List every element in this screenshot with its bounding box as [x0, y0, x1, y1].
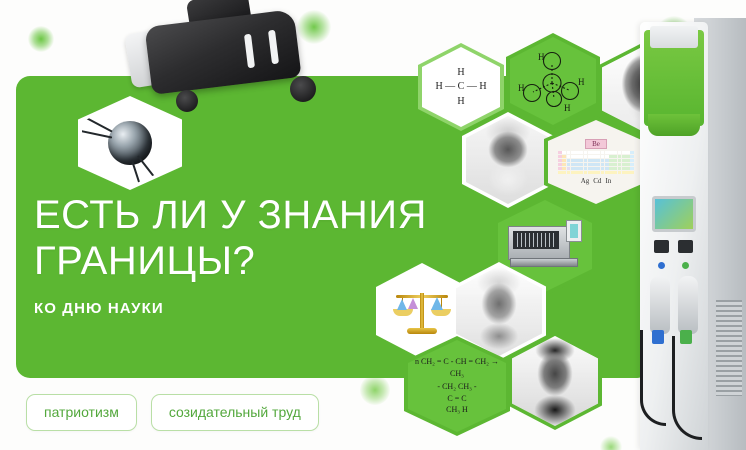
periodic-highlight-cd: Cd — [593, 177, 601, 185]
tag-list: патриотизм созидательный труд — [26, 394, 319, 431]
tetrahedral-molecule-icon: H H H H — [514, 45, 592, 117]
ev-charging-station-photo — [634, 0, 746, 450]
polymer-line-4: C = C — [415, 393, 499, 405]
periodic-highlight-ag: Ag — [581, 177, 590, 185]
polymer-line-1: n CH₂ = C - CH = CH₂ → — [415, 356, 499, 368]
charger-connector-right[interactable] — [678, 276, 698, 334]
polymer-line-2: CH₃ — [415, 368, 499, 380]
portrait-photo — [466, 116, 550, 204]
methane-bottom-h: H — [435, 95, 486, 109]
portrait-photo — [512, 336, 598, 426]
charger-indicator-green — [682, 262, 689, 269]
charger-button-right[interactable] — [678, 240, 693, 253]
headline-line-1: ЕСТЬ ЛИ У ЗНАНИЯ — [34, 193, 427, 237]
charger-cable-right — [672, 336, 702, 440]
delivery-robot-photo — [118, 0, 330, 112]
page-title: ЕСТЬ ЛИ У ЗНАНИЯ ГРАНИЦЫ? — [34, 192, 427, 284]
periodic-highlight-be: Be — [585, 139, 607, 149]
svg-text:H: H — [538, 52, 545, 62]
periodic-highlight-in: In — [605, 177, 611, 185]
periodic-table-grid — [558, 151, 634, 174]
headline-block: ЕСТЬ ЛИ У ЗНАНИЯ ГРАНИЦЫ? КО ДНЮ НАУКИ — [34, 192, 427, 317]
svg-text:H: H — [518, 83, 525, 93]
glow-dot-icon — [360, 375, 390, 405]
headline-line-2: ГРАНИЦЫ? — [34, 238, 427, 284]
sputnik-icon — [108, 121, 152, 165]
polymer-line-5: CH₃ H — [415, 404, 499, 416]
page-subtitle: КО ДНЮ НАУКИ — [34, 300, 427, 317]
glow-dot-icon — [600, 436, 622, 450]
vintage-computer-icon — [508, 220, 582, 272]
svg-text:H: H — [564, 103, 571, 113]
polymer-line-3: - CH₂ CH₃ - — [415, 381, 499, 393]
charger-display-screen — [652, 196, 696, 232]
methane-mid: H — C — H — [435, 80, 486, 94]
charger-connector-left[interactable] — [650, 276, 670, 334]
tag-chip-patriotism[interactable]: патриотизм — [26, 394, 137, 431]
charger-cable-left — [640, 330, 666, 426]
charger-indicator-blue — [658, 262, 665, 269]
glow-dot-icon — [28, 26, 54, 52]
methane-top-h: H — [435, 66, 486, 80]
charger-button-left[interactable] — [654, 240, 669, 253]
svg-text:H: H — [578, 77, 585, 87]
banner-stage: H H — C — H H H — [0, 0, 746, 450]
tag-chip-creative-labor[interactable]: созидательный труд — [151, 394, 319, 431]
